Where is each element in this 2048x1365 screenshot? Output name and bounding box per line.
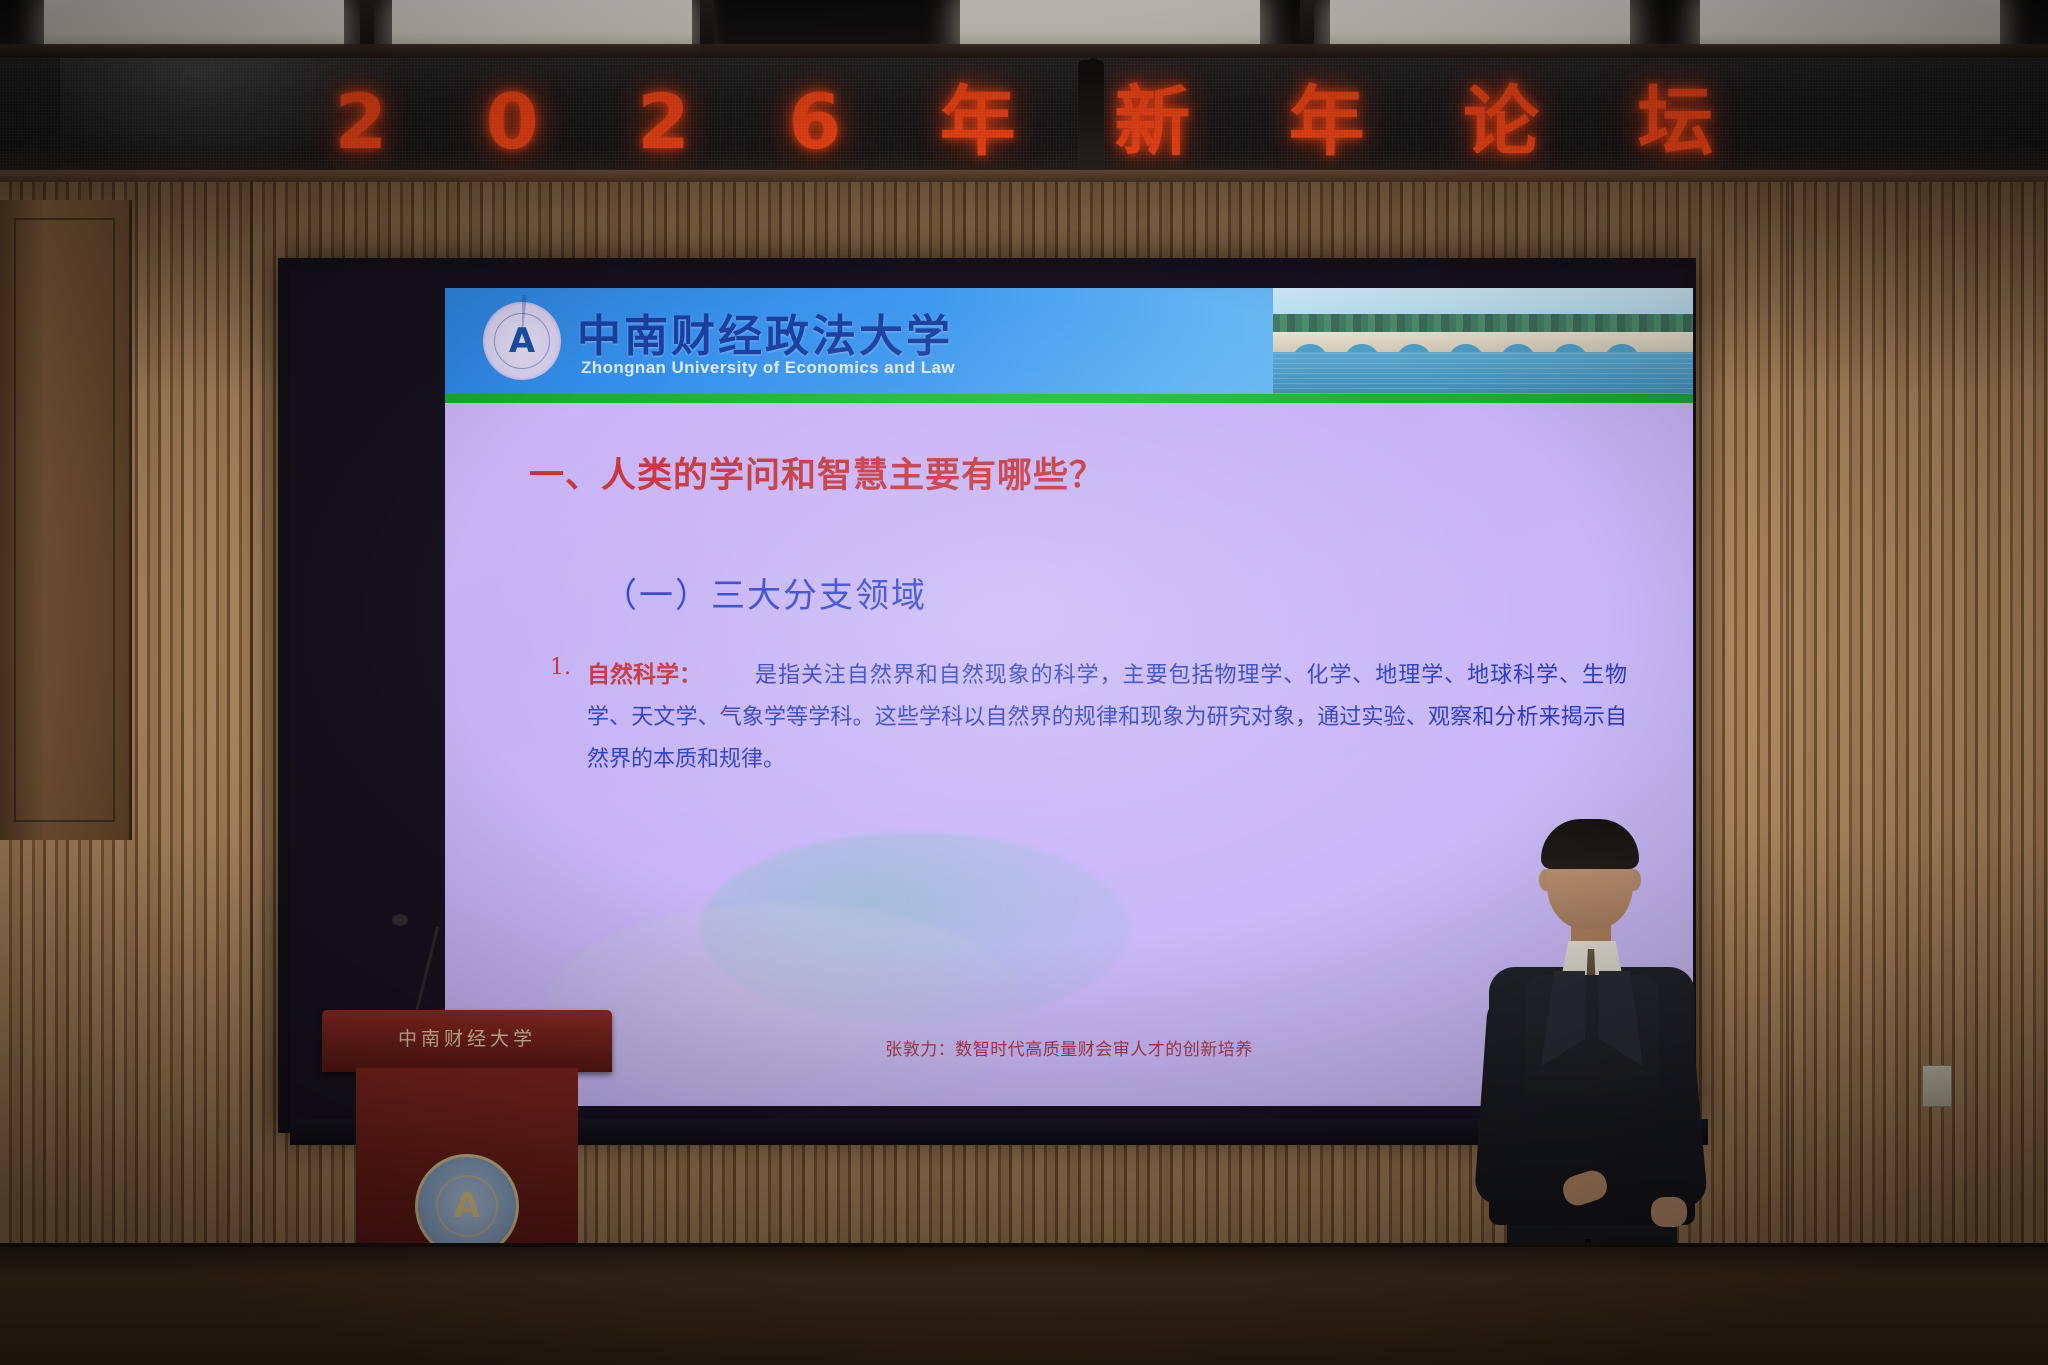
slide-heading: 一、人类的学问和智慧主要有哪些？ (529, 447, 1105, 498)
speaker-hair (1541, 819, 1639, 869)
ceiling-light-panel (960, 0, 1260, 46)
wall-seam (250, 182, 253, 1365)
campus-photo-icon (1273, 288, 1693, 394)
university-logo-icon: A (483, 302, 561, 380)
wall-socket-plate[interactable] (1922, 1065, 1952, 1107)
microphone-icon (392, 914, 408, 926)
list-item-number: 1. (537, 655, 571, 680)
lectern-emblem-letter: A (436, 1175, 498, 1237)
list-item-term: 自然科学： (587, 655, 702, 689)
slide-subheading: （一）三大分支领域 (603, 568, 927, 617)
photo-lake (1273, 352, 1693, 394)
university-name-cn: 中南财经政法大学 (577, 300, 953, 364)
university-name-en: Zhongnan University of Economics and Law (581, 358, 955, 378)
wall-seam (1786, 182, 1789, 1365)
door-inner-frame (14, 218, 115, 822)
side-door-panel[interactable] (0, 200, 132, 840)
lectern-top: 中南财经大学 (322, 1010, 612, 1072)
ceiling-light-panel (1330, 0, 1630, 46)
hanging-microphone-icon (1078, 60, 1104, 178)
lecture-hall-scene: 2 0 2 6 年 新 年 论 坛 (0, 0, 2048, 1365)
speaker-right-hand (1651, 1197, 1687, 1227)
led-banner: 2 0 2 6 年 新 年 论 坛 (0, 58, 2048, 176)
led-banner-text: 2 0 2 6 年 新 年 论 坛 (0, 60, 2048, 170)
ceiling-light-panel (1700, 0, 2000, 46)
ceiling-light-panel (44, 0, 344, 46)
decorative-ellipse (545, 903, 1025, 1106)
ceiling-light-panel (392, 0, 692, 46)
floor (0, 1247, 2048, 1365)
list-item-body: 是指关注自然界和自然现象的科学，主要包括物理学、化学、地理学、地球科学、生物学、… (587, 655, 1627, 781)
slide-header-band: A 中南财经政法大学 Zhongnan University of Econom… (445, 288, 1693, 394)
slide-accent-bar (445, 394, 1693, 403)
lectern-top-label: 中南财经大学 (322, 1024, 612, 1051)
speaker-sweater (1525, 975, 1659, 1095)
logo-letter: A (509, 324, 535, 358)
ceiling (0, 0, 2048, 62)
logo-inner: A (494, 313, 550, 369)
